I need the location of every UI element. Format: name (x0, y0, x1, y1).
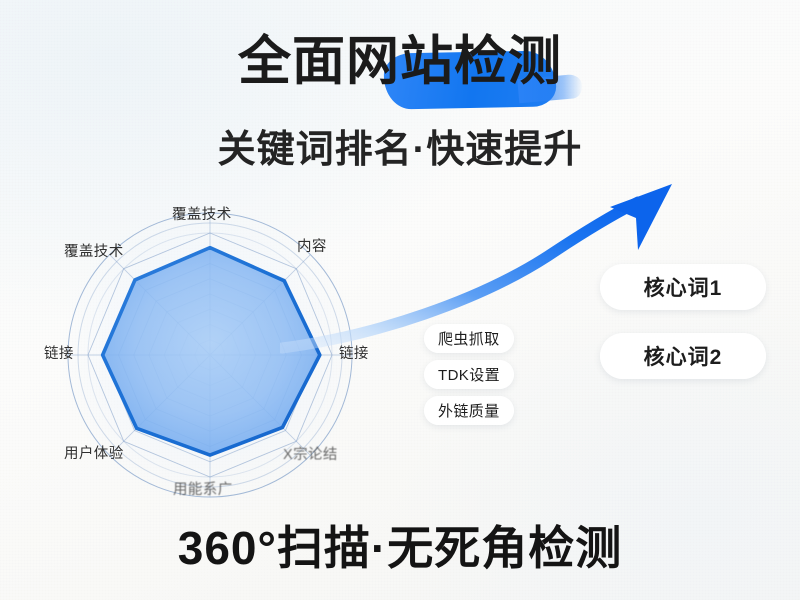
headline-highlight: 网站 (346, 32, 454, 91)
headline-before: 全面 (238, 32, 346, 91)
radar-axis-label-3: X宗论结 (283, 443, 338, 464)
keyword-pill-2[interactable]: 核心词2 (600, 333, 766, 379)
radar-axis-label-2: 链接 (339, 342, 369, 363)
feature-pill-crawl[interactable]: 爬虫抓取 (424, 324, 514, 353)
headline-after: 检测 (454, 32, 562, 91)
radar-axis-label-5: 用户体验 (64, 442, 124, 463)
bottom-tagline: 360°扫描·无死角检测 (0, 512, 800, 578)
radar-axis-label-1: 内容 (297, 235, 327, 256)
radar-axis-label-4: 用能系广 (173, 478, 233, 499)
radar-axis-label-6: 链接 (44, 342, 74, 363)
poster-canvas: 全面网站检测 关键词排名·快速提升 (0, 0, 800, 600)
feature-pill-tdk[interactable]: TDK设置 (424, 360, 514, 389)
radar-axis-label-0: 覆盖技术 (172, 203, 232, 224)
page-title: 全面网站检测 (238, 34, 562, 90)
feature-pill-backlink[interactable]: 外链质量 (424, 396, 514, 425)
headline-block: 全面网站检测 (0, 34, 800, 90)
keyword-pill-1[interactable]: 核心词1 (600, 264, 766, 310)
sub-headline: 关键词排名·快速提升 (0, 118, 800, 173)
radar-axis-label-7: 覆盖技术 (64, 240, 124, 261)
